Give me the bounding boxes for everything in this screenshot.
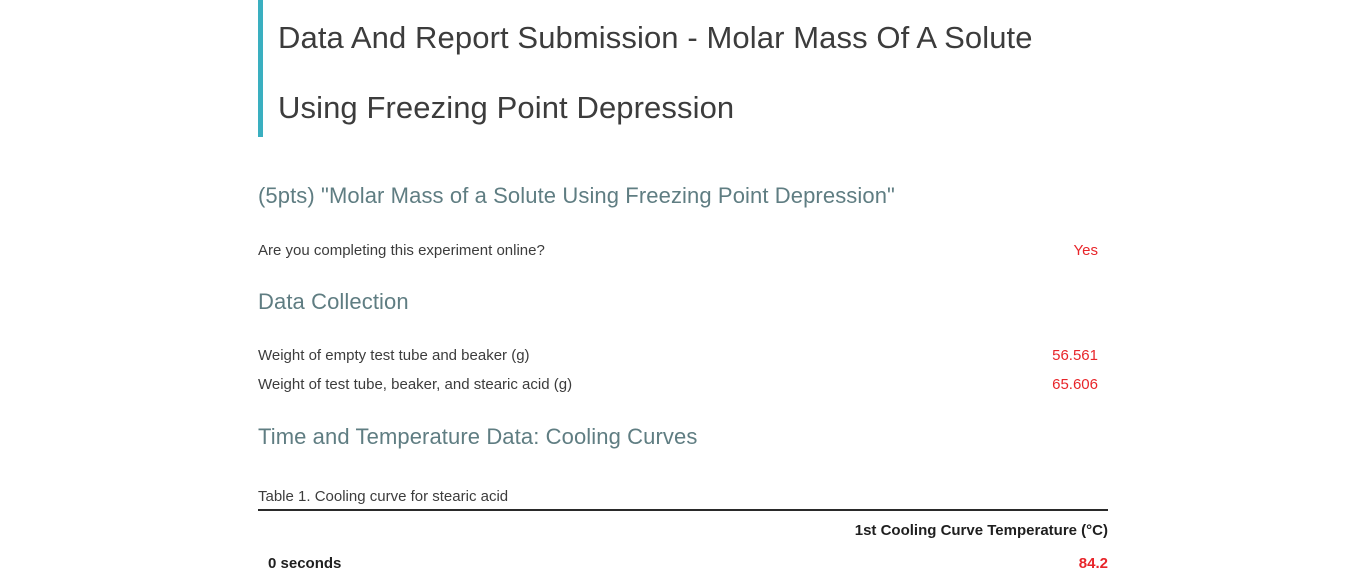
table-header-time	[258, 510, 678, 545]
data-label-empty-weight: Weight of empty test tube and beaker (g)	[258, 346, 530, 366]
question-label-online: Are you completing this experiment onlin…	[258, 241, 545, 261]
cooling-curve-table: 1st Cooling Curve Temperature (°C) 0 sec…	[258, 509, 1108, 572]
title-accent-bar	[258, 0, 263, 137]
section-heading-experiment: (5pts) "Molar Mass of a Solute Using Fre…	[258, 183, 895, 209]
table-header-temperature: 1st Cooling Curve Temperature (°C)	[678, 510, 1108, 545]
page-title: Data And Report Submission - Molar Mass …	[278, 0, 1098, 143]
data-value-empty-weight: 56.561	[1052, 346, 1098, 366]
data-label-acid-weight: Weight of test tube, beaker, and stearic…	[258, 375, 572, 395]
question-value-online: Yes	[1074, 241, 1098, 261]
section-heading-data-collection: Data Collection	[258, 289, 409, 315]
title-block: Data And Report Submission - Molar Mass …	[258, 0, 1098, 143]
data-row-acid-weight: Weight of test tube, beaker, and stearic…	[258, 375, 1098, 395]
section-heading-cooling-curves: Time and Temperature Data: Cooling Curve…	[258, 424, 697, 450]
data-value-acid-weight: 65.606	[1052, 375, 1098, 395]
table-header-row: 1st Cooling Curve Temperature (°C)	[258, 510, 1108, 545]
table-caption: Table 1. Cooling curve for stearic acid	[258, 487, 508, 507]
document-page: Data And Report Submission - Molar Mass …	[0, 0, 1366, 559]
question-row-online: Are you completing this experiment onlin…	[258, 241, 1098, 261]
table-head: 1st Cooling Curve Temperature (°C)	[258, 510, 1108, 545]
data-row-empty-weight: Weight of empty test tube and beaker (g)…	[258, 346, 1098, 366]
